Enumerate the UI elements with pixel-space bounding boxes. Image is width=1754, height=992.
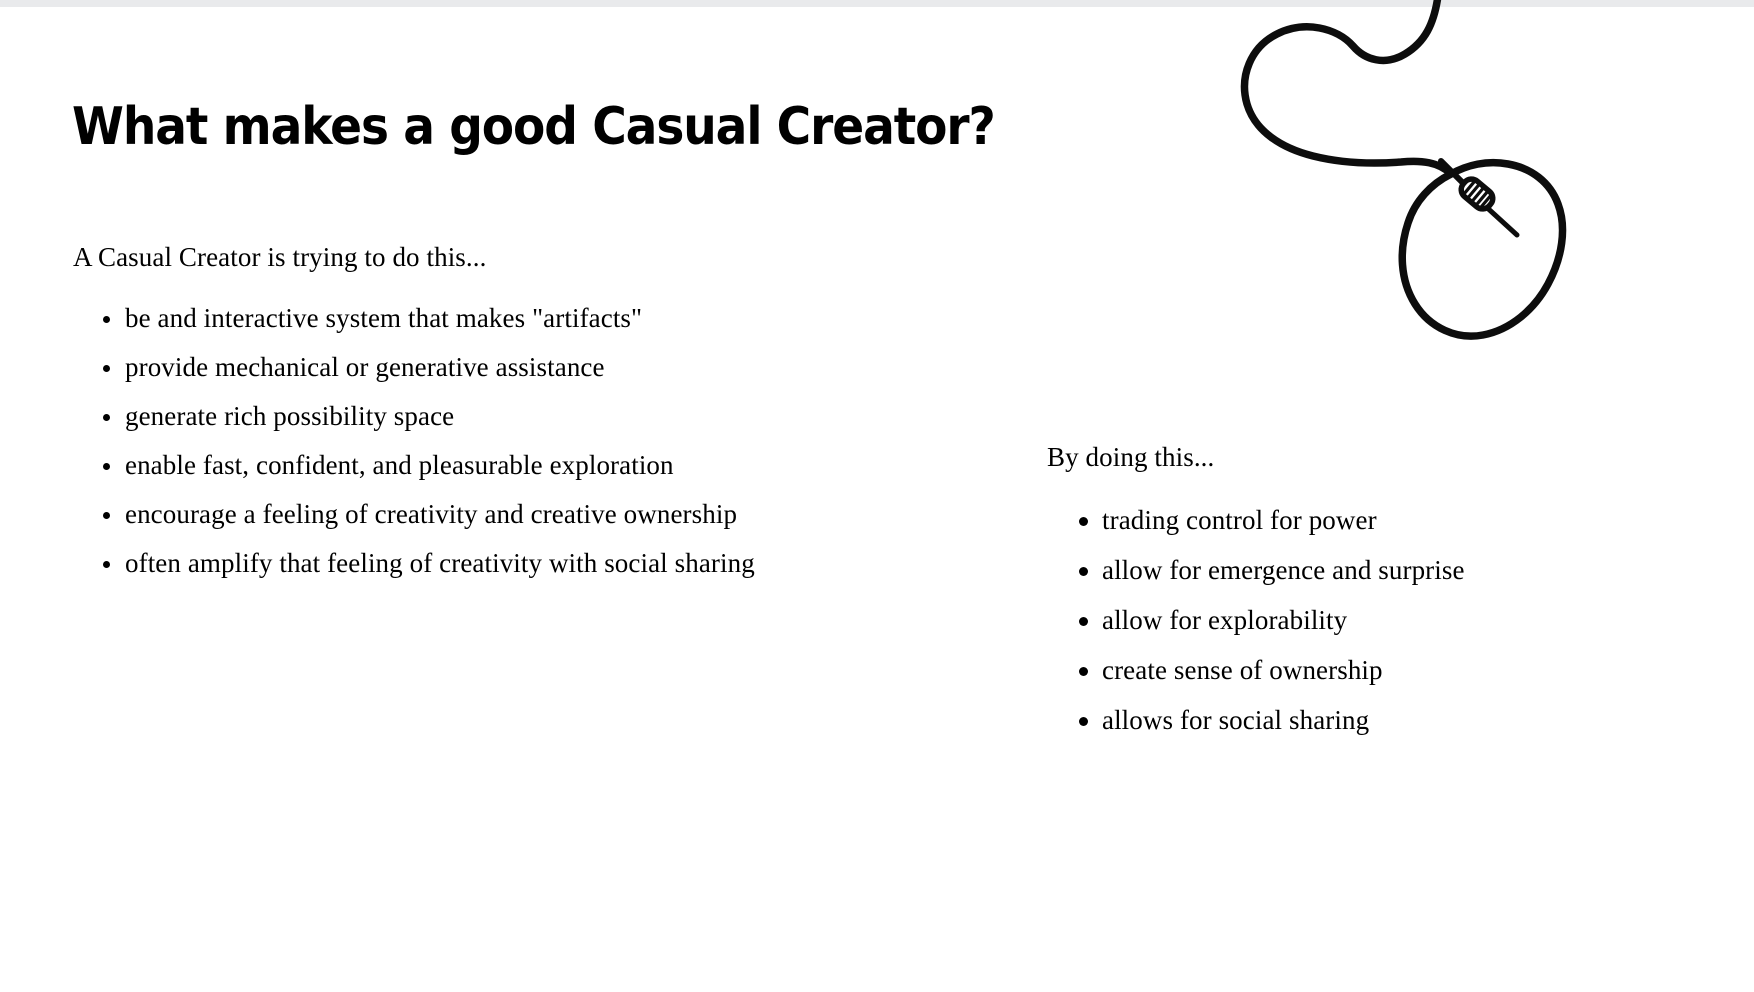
list-item-label: trading control for power — [1102, 505, 1377, 535]
list-item: provide mechanical or generative assista… — [73, 351, 893, 384]
bullet-dot-icon — [1079, 617, 1088, 626]
bullet-dot-icon — [1079, 717, 1088, 726]
list-item-label: allow for explorability — [1102, 605, 1347, 635]
right-column-lead: By doing this... — [1047, 440, 1707, 474]
bullet-dot-icon — [103, 463, 110, 470]
list-item: create sense of ownership — [1047, 654, 1707, 687]
computer-mouse-illustration — [1225, 0, 1645, 388]
list-item-label: enable fast, confident, and pleasurable … — [125, 450, 674, 480]
bullet-dot-icon — [1079, 517, 1088, 526]
scroll-wheel-icon — [1458, 175, 1497, 212]
bullet-dot-icon — [1079, 667, 1088, 676]
page-title: What makes a good Casual Creator? — [72, 96, 995, 158]
bullet-dot-icon — [103, 365, 110, 372]
slide-canvas: What makes a good Casual Creator? A Casu… — [0, 0, 1754, 992]
list-item-label: be and interactive system that makes "ar… — [125, 303, 642, 333]
bullet-dot-icon — [103, 561, 110, 568]
list-item: often amplify that feeling of creativity… — [73, 547, 893, 580]
list-item: be and interactive system that makes "ar… — [73, 302, 893, 335]
bullet-dot-icon — [103, 414, 110, 421]
list-item-label: create sense of ownership — [1102, 655, 1383, 685]
list-item: generate rich possibility space — [73, 400, 893, 433]
list-item-label: allow for emergence and surprise — [1102, 555, 1465, 585]
bullet-dot-icon — [1079, 567, 1088, 576]
left-column: A Casual Creator is trying to do this...… — [73, 240, 893, 580]
right-column: By doing this... trading control for pow… — [1047, 440, 1707, 754]
right-bullet-list: trading control for power allow for emer… — [1047, 504, 1707, 737]
left-bullet-list: be and interactive system that makes "ar… — [73, 302, 893, 580]
list-item: encourage a feeling of creativity and cr… — [73, 498, 893, 531]
left-column-lead: A Casual Creator is trying to do this... — [73, 240, 893, 274]
list-item: enable fast, confident, and pleasurable … — [73, 449, 893, 482]
list-item: allow for explorability — [1047, 604, 1707, 637]
top-edge-strip — [0, 0, 1754, 7]
list-item: trading control for power — [1047, 504, 1707, 537]
bullet-dot-icon — [103, 512, 110, 519]
list-item: allows for social sharing — [1047, 704, 1707, 737]
bullet-dot-icon — [103, 316, 110, 323]
list-item-label: provide mechanical or generative assista… — [125, 352, 605, 382]
list-item: allow for emergence and surprise — [1047, 554, 1707, 587]
list-item-label: generate rich possibility space — [125, 401, 454, 431]
list-item-label: allows for social sharing — [1102, 705, 1369, 735]
list-item-label: often amplify that feeling of creativity… — [125, 548, 755, 578]
list-item-label: encourage a feeling of creativity and cr… — [125, 499, 737, 529]
